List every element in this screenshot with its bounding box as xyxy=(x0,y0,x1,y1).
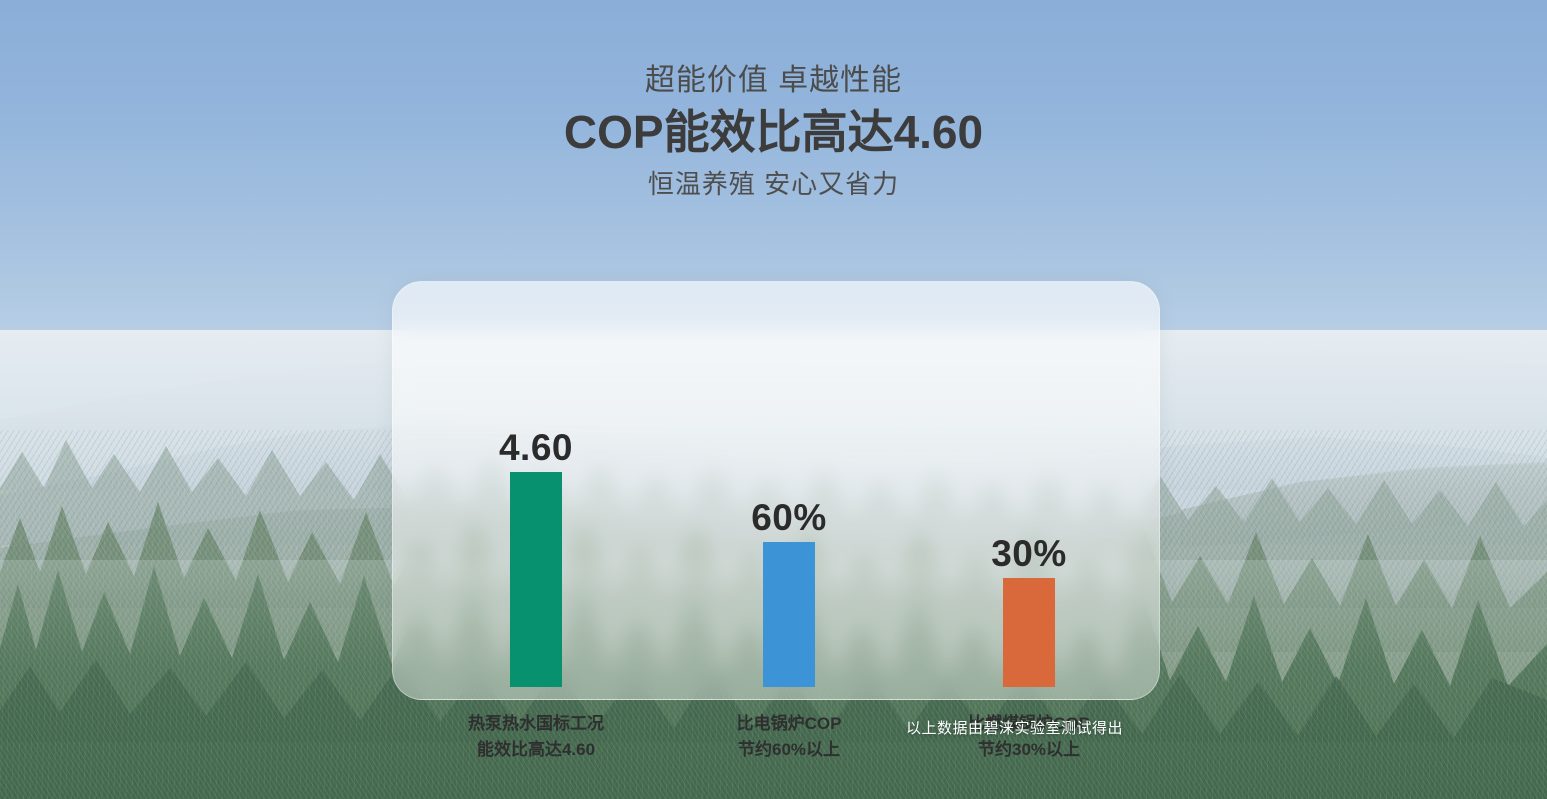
bar-caption-line1: 热泵热水国标工况 xyxy=(434,711,638,737)
bar-chart: 4.60 热泵热水国标工况 能效比高达4.60 60% 比电锅炉COP 节约60… xyxy=(0,0,1547,799)
bar-rect-heat-pump xyxy=(510,472,562,687)
bar-caption-line2: 节约60%以上 xyxy=(687,737,891,763)
bar-value-label: 4.60 xyxy=(456,428,616,468)
infographic-stage: 超能价值 卓越性能 COP能效比高达4.60 恒温养殖 安心又省力 4.60 热… xyxy=(0,0,1547,799)
bar-caption-heat-pump: 热泵热水国标工况 能效比高达4.60 xyxy=(434,711,638,763)
bar-caption-electric-boiler: 比电锅炉COP 节约60%以上 xyxy=(687,711,891,763)
bar-caption-line2: 能效比高达4.60 xyxy=(434,737,638,763)
bar-rect-coal-boiler xyxy=(1003,578,1055,687)
footnote-text: 以上数据由碧涞实验室测试得出 xyxy=(906,718,1123,740)
bar-caption-line2: 节约30%以上 xyxy=(927,737,1131,763)
bar-value-label: 60% xyxy=(709,498,869,538)
bar-caption-line1: 比电锅炉COP xyxy=(687,711,891,737)
bar-rect-electric-boiler xyxy=(763,542,815,687)
bar-value-label: 30% xyxy=(949,534,1109,574)
